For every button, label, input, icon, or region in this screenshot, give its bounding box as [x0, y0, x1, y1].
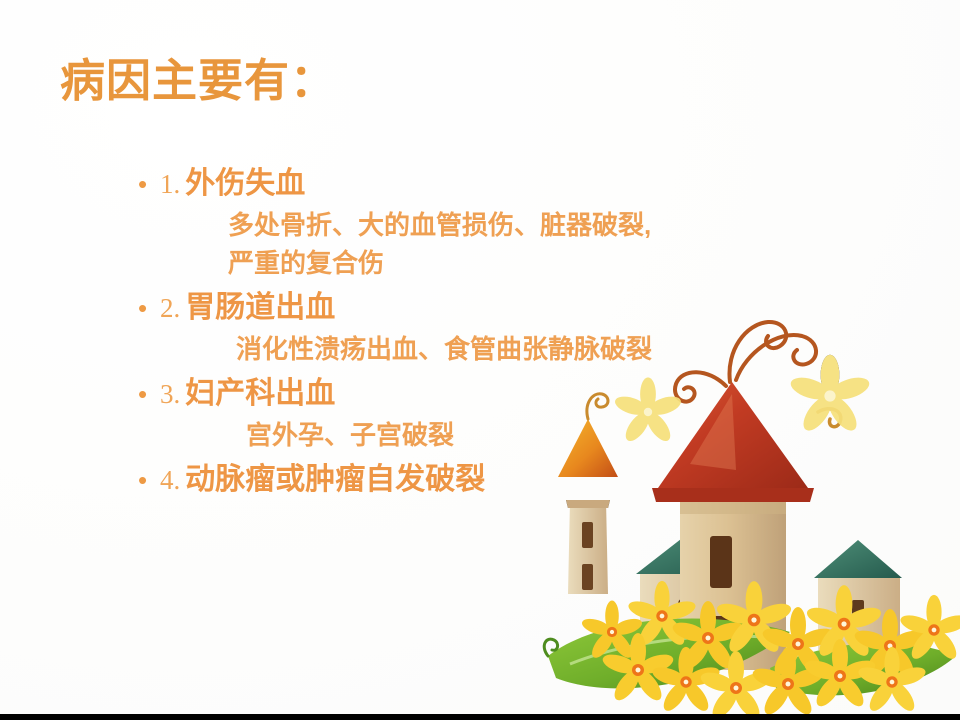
list-item-heading: 胃肠道出血	[185, 288, 335, 328]
list-item-number: 4.	[160, 460, 185, 500]
leaf-cluster	[544, 619, 956, 696]
letterbox-bar	[0, 714, 960, 720]
list-item-subline: 多处骨折、大的血管损伤、脏器破裂,	[228, 206, 838, 244]
list-item: • 1. 外伤失血	[138, 164, 838, 204]
slide-canvas: 病因主要有： • 1. 外伤失血 多处骨折、大的血管损伤、脏器破裂, 严重的复合…	[0, 0, 960, 720]
list-item-heading: 外伤失血	[185, 164, 305, 204]
list-item-subline: 宫外孕、子宫破裂	[246, 416, 838, 454]
page-title: 病因主要有：	[60, 57, 336, 106]
list-item-heading: 妇产科出血	[185, 374, 335, 414]
list-item-heading: 动脉瘤或肿瘤自发破裂	[185, 460, 485, 500]
list-item: • 2. 胃肠道出血	[138, 288, 838, 328]
bullet-list: • 1. 外伤失血 多处骨折、大的血管损伤、脏器破裂, 严重的复合伤 • 2. …	[138, 164, 838, 502]
bullet-icon: •	[138, 460, 160, 500]
list-item-number: 1.	[160, 164, 185, 204]
list-item: • 3. 妇产科出血	[138, 374, 838, 414]
list-item-number: 2.	[160, 288, 185, 328]
bullet-icon: •	[138, 374, 160, 414]
list-item-number: 3.	[160, 374, 185, 414]
list-item-subline: 消化性溃疡出血、食管曲张静脉破裂	[236, 330, 838, 368]
bullet-icon: •	[138, 288, 160, 328]
mid-building-right	[814, 540, 902, 650]
list-item-subline: 严重的复合伤	[228, 244, 838, 282]
mid-building-left	[636, 512, 746, 650]
yellow-flower-cluster	[580, 581, 960, 714]
bullet-icon: •	[138, 164, 160, 204]
list-item: • 4. 动脉瘤或肿瘤自发破裂	[138, 460, 838, 500]
